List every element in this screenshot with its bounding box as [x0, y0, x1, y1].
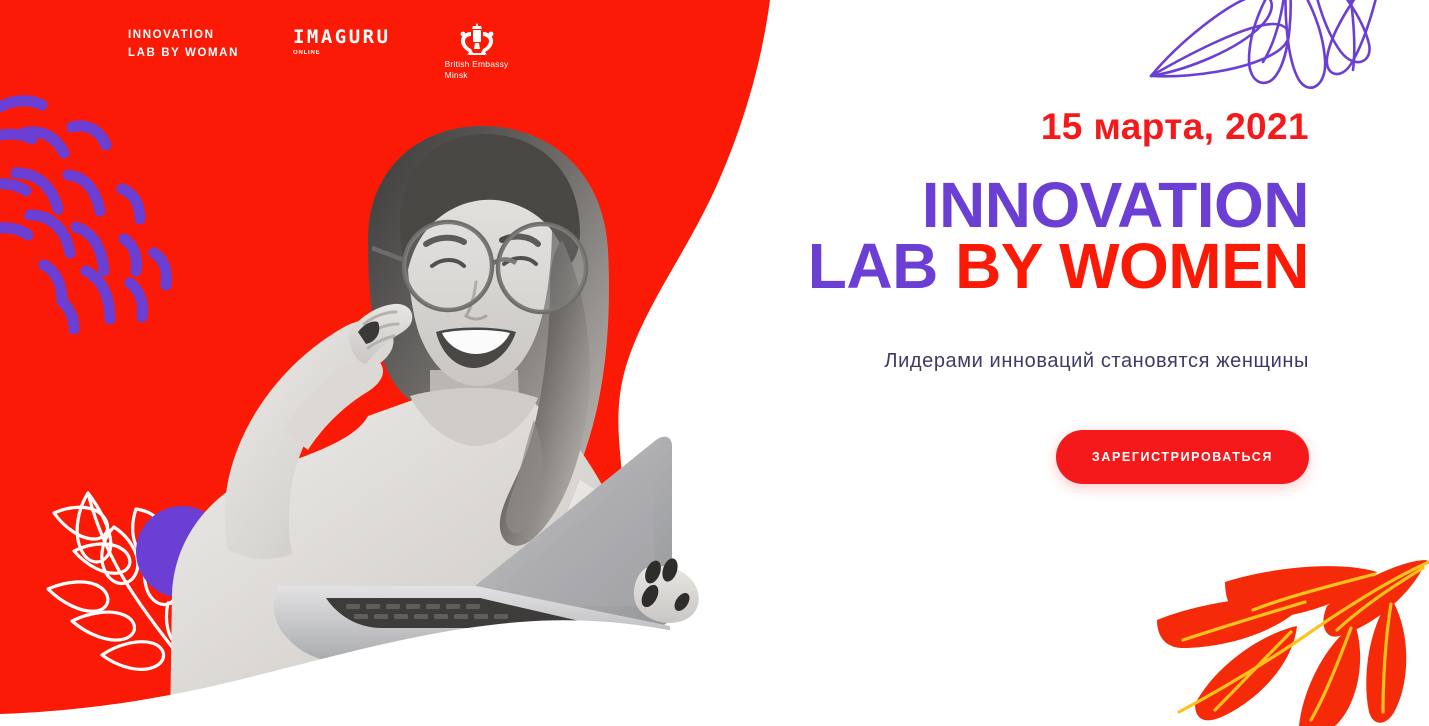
white-outline-branch	[18, 455, 268, 705]
woman-with-laptop-photo	[110, 120, 800, 726]
purple-circle-decoration	[136, 506, 228, 598]
embassy-label: British Embassy Minsk	[445, 59, 509, 82]
red-blob-shape	[0, 0, 880, 726]
hero-subtitle: Лидерами инноваций становятся женщины	[884, 350, 1309, 373]
event-date: 15 марта, 2021	[1041, 108, 1309, 145]
imaguru-wordmark: IMAGURU	[293, 28, 391, 47]
title-lab-word: LAB	[808, 230, 955, 302]
imaguru-sublabel: ONLINE	[293, 50, 391, 56]
royal-crest-icon	[453, 22, 501, 56]
partner-logos: INNOVATION LAB BY WOMAN IMAGURU ONLINE	[0, 0, 509, 100]
white-outline-leaves	[455, 480, 635, 660]
title-by-women-words: BY WOMEN	[955, 230, 1309, 302]
logo-imaguru[interactable]: IMAGURU ONLINE	[293, 28, 391, 56]
hero-content: 15 марта, 2021 INNOVATION LAB BY WOMEN Л…	[789, 0, 1429, 726]
logo-innovation-lab-by-woman[interactable]: INNOVATION LAB BY WOMAN	[128, 27, 239, 63]
white-bottom-wave	[0, 586, 900, 726]
page-title: INNOVATION LAB BY WOMEN	[808, 175, 1309, 298]
register-button[interactable]: ЗАРЕГИСТРИРОВАТЬСЯ	[1056, 430, 1309, 484]
landing-page-hero: INNOVATION LAB BY WOMAN IMAGURU ONLINE	[0, 0, 1429, 726]
purple-dash-pattern	[0, 85, 220, 335]
logo-british-embassy-minsk[interactable]: British Embassy Minsk	[445, 22, 509, 82]
title-line-one: INNOVATION	[808, 175, 1309, 236]
